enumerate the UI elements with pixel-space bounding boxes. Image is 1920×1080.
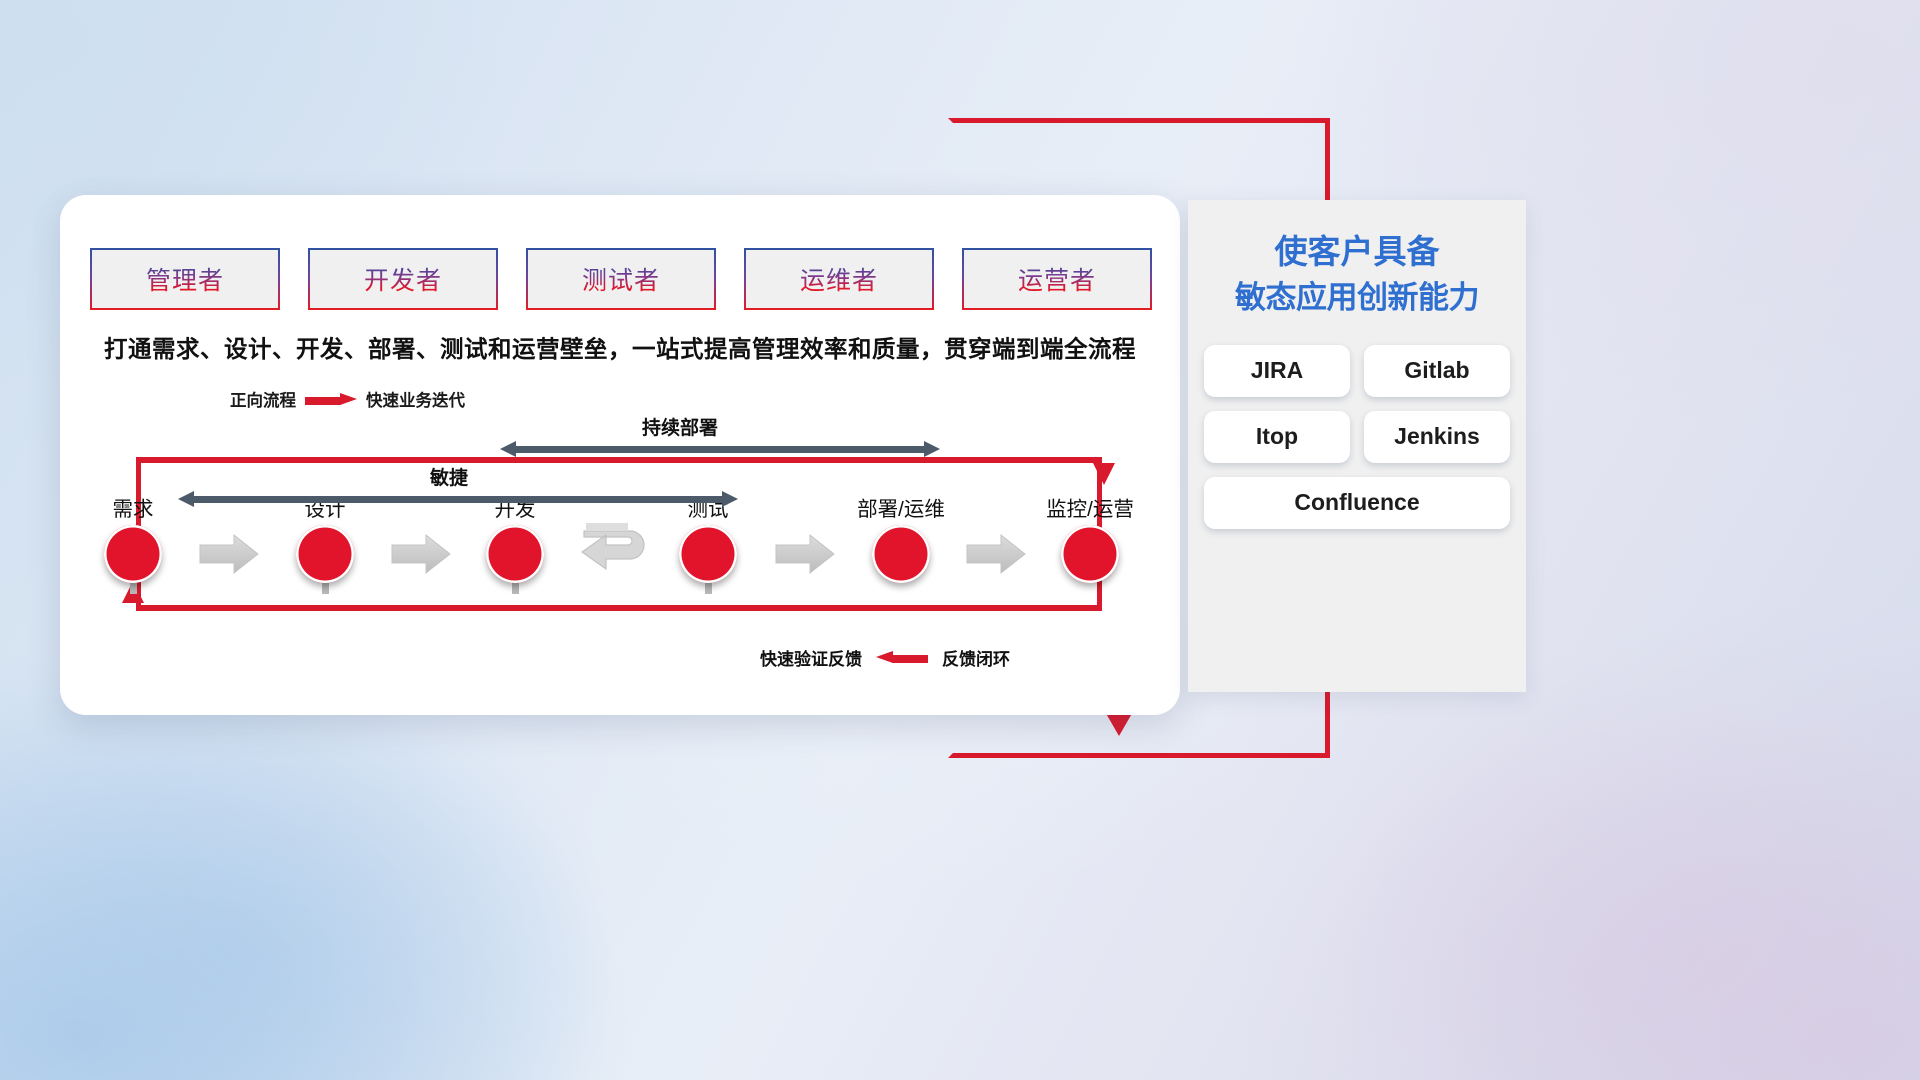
arrow-left-icon (876, 651, 928, 664)
chevron-arrow-icon (390, 533, 452, 575)
tool-chip-jenkins[interactable]: Jenkins (1364, 411, 1510, 463)
feedback-loop-arrow-down-icon (1093, 463, 1115, 485)
feedback-label-left: 快速验证反馈 (760, 645, 862, 670)
tool-chip-gitlab[interactable]: Gitlab (1364, 345, 1510, 397)
node-dot (1061, 525, 1119, 583)
feedback-label-right: 反馈闭环 (942, 645, 1010, 670)
panel-title: 使客户具备 敏态应用创新能力 (1188, 228, 1526, 321)
node-dot (679, 525, 737, 583)
main-diagram-card: 管理者 开发者 测试者 运维者 运营者 打通需求、设计、开发、部署、测试和运营壁… (60, 195, 1180, 715)
role-box-row: 管理者 开发者 测试者 运维者 运营者 (90, 248, 1152, 310)
span-arrow-label-continuous-deployment: 持续部署 (642, 413, 718, 440)
role-label: 测试者 (582, 261, 660, 297)
node-label: 部署/运维 (836, 492, 966, 522)
node-label: 监控/运营 (1025, 492, 1155, 522)
panel-title-line1: 使客户具备 (1275, 233, 1440, 270)
cycle-loop-arrow-icon (576, 521, 660, 592)
chevron-arrow-icon (965, 533, 1027, 575)
forward-flow-legend: 正向流程 快速业务迭代 (230, 387, 465, 411)
node-dot (486, 525, 544, 583)
tool-chip-itop[interactable]: Itop (1204, 411, 1350, 463)
role-box-operator[interactable]: 运营者 (962, 248, 1152, 310)
feedback-legend: 快速验证反馈 反馈闭环 (760, 645, 1010, 670)
pipeline-node-deploy-ops[interactable]: 部署/运维 (836, 492, 966, 583)
role-label: 管理者 (146, 261, 224, 297)
role-box-developer[interactable]: 开发者 (308, 248, 498, 310)
tool-chip-confluence[interactable]: Confluence (1204, 477, 1510, 529)
tool-chip-jira[interactable]: JIRA (1204, 345, 1350, 397)
forward-flow-label-right: 快速业务迭代 (366, 387, 465, 411)
role-label: 运维者 (800, 261, 878, 297)
role-box-manager[interactable]: 管理者 (90, 248, 280, 310)
node-dot (104, 525, 162, 583)
description-text: 打通需求、设计、开发、部署、测试和运营壁垒，一站式提高管理效率和质量，贯穿端到端… (60, 330, 1180, 364)
role-box-tester[interactable]: 测试者 (526, 248, 716, 310)
double-arrow-icon-agile (178, 491, 738, 507)
panel-title-line2: 敏态应用创新能力 (1188, 276, 1526, 321)
node-dot (872, 525, 930, 583)
node-dot (296, 525, 354, 583)
tool-chip-list: JIRA Gitlab Itop Jenkins Confluence (1202, 345, 1512, 529)
role-label: 开发者 (364, 261, 442, 297)
forward-flow-label-left: 正向流程 (230, 387, 296, 411)
chevron-arrow-icon (198, 533, 260, 575)
role-box-ops[interactable]: 运维者 (744, 248, 934, 310)
arrow-right-icon (305, 393, 357, 406)
chevron-arrow-icon (774, 533, 836, 575)
role-label: 运营者 (1018, 261, 1096, 297)
value-proposition-panel: 使客户具备 敏态应用创新能力 JIRA Gitlab Itop Jenkins … (1188, 200, 1526, 692)
double-arrow-icon-continuous-deployment (500, 441, 940, 457)
pipeline-node-monitor-operate[interactable]: 监控/运营 (1025, 492, 1155, 583)
